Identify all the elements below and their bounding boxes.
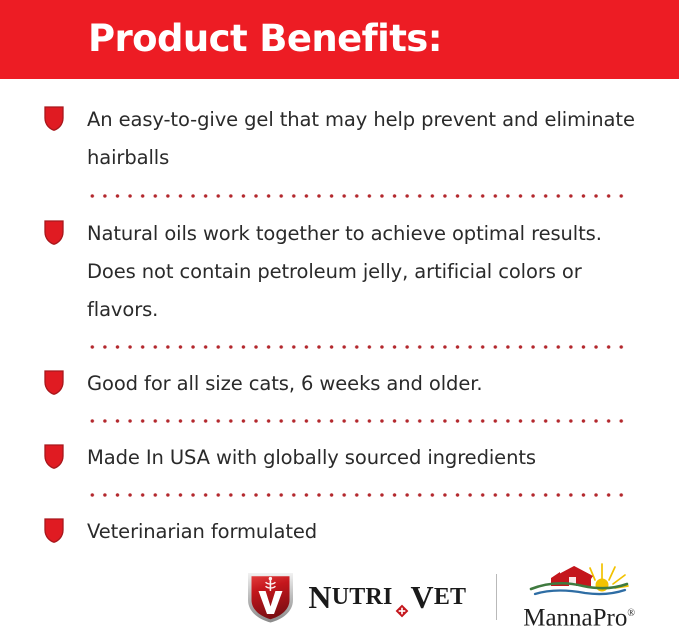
benefit-item: Made In USA with globally sourced ingred… [0, 439, 679, 477]
benefit-text: Made In USA with globally sourced ingred… [87, 439, 649, 477]
mannapro-word-text: MannaPro [523, 605, 627, 632]
red-diamond-cross-icon [395, 591, 409, 605]
nutrivet-word-utri: UTRI [332, 581, 393, 613]
nutrivet-shield-logo-icon [246, 570, 295, 624]
footer-brand-bar: NUTRI VET [0, 557, 679, 636]
shield-icon [44, 220, 64, 245]
nutrivet-word-et: ET [434, 581, 466, 613]
mannapro-logo-lockup: MannaPro® [523, 562, 635, 630]
registered-trademark-icon: ® [627, 608, 635, 619]
nutrivet-word-n: N [308, 581, 331, 613]
benefit-text: Natural oils work together to achieve op… [87, 215, 649, 329]
page-title: Product Benefits: [88, 17, 442, 61]
benefit-item: Natural oils work together to achieve op… [0, 215, 679, 329]
logo-divider [496, 574, 497, 620]
nutrivet-word-v: V [411, 581, 434, 613]
shield-icon [44, 444, 64, 469]
shield-icon [44, 518, 64, 543]
benefit-text: Good for all size cats, 6 weeks and olde… [87, 365, 649, 403]
benefit-item: An easy-to-give gel that may help preven… [0, 101, 679, 177]
dotted-divider [86, 190, 629, 202]
benefits-list: An easy-to-give gel that may help preven… [0, 79, 679, 557]
benefit-text: Veterinarian formulated [87, 513, 649, 551]
shield-icon [44, 370, 64, 395]
header-banner: Product Benefits: [0, 0, 679, 79]
dotted-divider [86, 415, 629, 427]
dotted-divider [86, 341, 629, 353]
nutrivet-logo-lockup: NUTRI VET [246, 570, 466, 624]
dotted-divider [86, 489, 629, 501]
nutrivet-wordmark: NUTRI VET [308, 581, 466, 613]
mannapro-wordmark: MannaPro® [523, 601, 635, 630]
benefit-item: Good for all size cats, 6 weeks and olde… [0, 365, 679, 403]
mannapro-farm-logo-icon [527, 562, 631, 600]
benefit-text: An easy-to-give gel that may help preven… [87, 101, 649, 177]
shield-icon [44, 106, 64, 131]
benefit-item: Veterinarian formulated [0, 513, 679, 551]
